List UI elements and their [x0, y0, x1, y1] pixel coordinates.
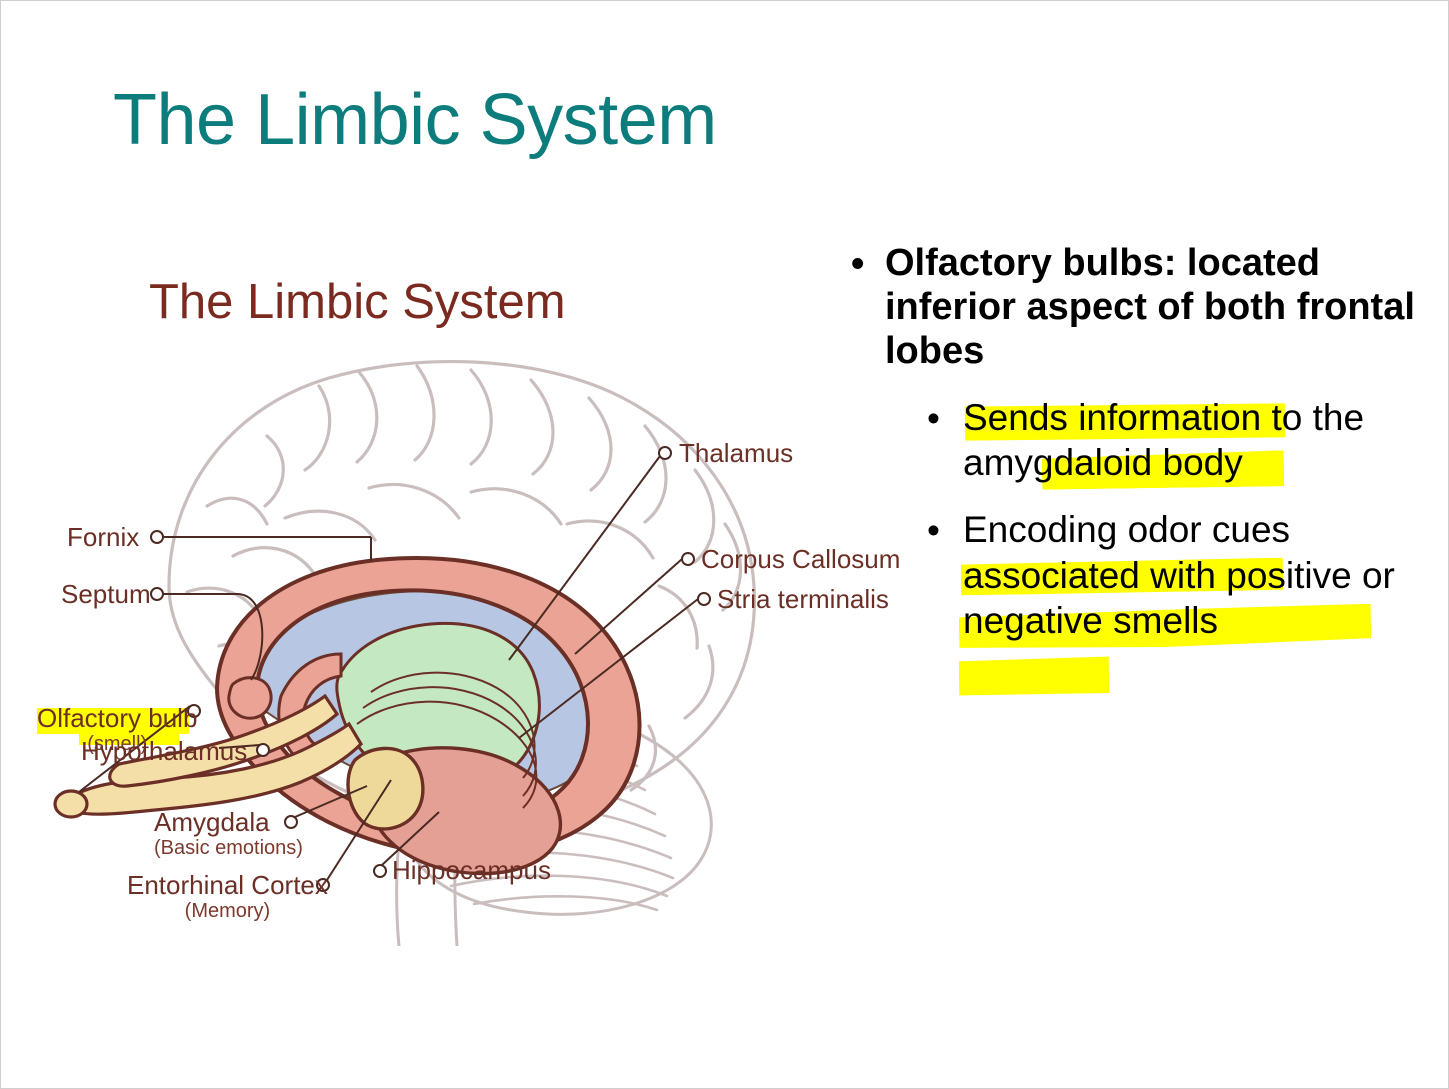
limbic-system-diagram: The Limbic System [19, 256, 899, 956]
slide-canvas: The Limbic System The Limbic System [0, 0, 1449, 1089]
diagram-label-amygdala: Amygdala (Basic emotions) [154, 808, 303, 860]
diagram-label-thalamus: Thalamus [679, 439, 793, 468]
bullet-level2-text: Encoding odor cues associated with posit… [963, 509, 1395, 640]
bullet-glyph-icon: • [927, 396, 940, 441]
diagram-label-corpus-callosum: Corpus Callosum [701, 545, 900, 574]
label-text-fornix: Fornix [67, 522, 139, 552]
diagram-label-septum: Septum [61, 580, 151, 609]
bullet-level2-text: Sends information to the amygdaloid body [963, 397, 1364, 483]
bullet-level2-sends-information: • Sends information to the amygdaloid bo… [839, 395, 1439, 485]
label-text-thalamus: Thalamus [679, 438, 793, 468]
label-text-septum: Septum [61, 579, 151, 609]
label-text-amygdala: Amygdala [154, 807, 270, 837]
page-title: The Limbic System [113, 83, 717, 159]
label-text-stria-terminalis: Stria terminalis [717, 584, 889, 614]
diagram-label-fornix: Fornix [67, 523, 139, 552]
label-text-hippocampus: Hippocampus [392, 855, 551, 885]
bullet-glyph-icon: • [851, 242, 864, 286]
diagram-label-stria-terminalis: Stria terminalis [717, 585, 889, 614]
diagram-label-entorhinal-cortex: Entorhinal Cortex (Memory) [127, 871, 328, 923]
diagram-label-hippocampus: Hippocampus [392, 856, 551, 885]
bullet-list: • Olfactory bulbs: located inferior aspe… [839, 241, 1439, 643]
diagram-label-hypothalamus: Hypothalamus [81, 737, 247, 766]
label-text-olfactory-bulb: Olfactory bulb [37, 703, 197, 733]
label-sub-amygdala: (Basic emotions) [154, 837, 303, 859]
bullet-level2-encoding-odor-cues: • Encoding odor cues associated with pos… [839, 507, 1439, 642]
label-sub-entorhinal-cortex: (Memory) [127, 900, 328, 922]
bullet-level1-text: Olfactory bulbs: located inferior aspect… [885, 242, 1415, 372]
label-text-entorhinal-cortex: Entorhinal Cortex [127, 870, 328, 900]
highlighter-mark-smells [959, 657, 1109, 696]
bullet-glyph-icon: • [927, 508, 940, 553]
label-text-hypothalamus: Hypothalamus [81, 736, 247, 766]
bullet-level1-olfactory-bulbs: • Olfactory bulbs: located inferior aspe… [839, 241, 1439, 373]
label-text-corpus-callosum: Corpus Callosum [701, 544, 900, 574]
